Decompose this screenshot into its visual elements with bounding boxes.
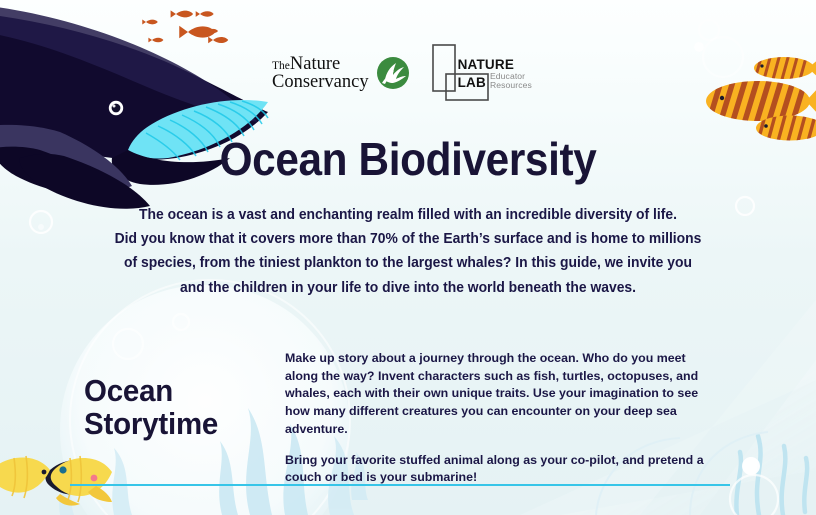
section-body-ocean-storytime: Make up story about a journey through th… [285,350,719,487]
intro-paragraph: The ocean is a vast and enchanting realm… [99,203,717,300]
logo-row: TheNature Conservancy NATURE LAB [272,44,544,102]
intro-line-4: and the children in your life to dive in… [99,276,717,300]
storytime-paragraph-1: Make up story about a journey through th… [285,350,719,439]
section-divider [70,484,730,486]
section-heading-line-2: Storytime [84,407,284,440]
page-title: Ocean Biodiversity [33,136,784,182]
poster-page: TheNature Conservancy NATURE LAB [0,0,816,515]
nature-lab-sub-resources: Resources [490,81,532,90]
nature-lab-wordmark: NATURE LAB Educator Resources [458,58,532,90]
tnc-conservancy-text: Conservancy [272,73,369,91]
nature-lab-word-lab: LAB [458,76,486,90]
intro-line-2: Did you know that it covers more than 70… [99,227,717,251]
striped-fish-top [754,54,816,83]
the-nature-conservancy-logo: TheNature Conservancy [272,55,410,91]
section-heading-line-1: Ocean [84,374,284,407]
yellow-butterflyfish-front [46,456,113,506]
nature-lab-logo: NATURE LAB Educator Resources [432,44,524,102]
orange-fish-school [142,10,228,43]
intro-line-3: of species, from the tiniest plankton to… [99,251,717,275]
yellow-butterflyfish-back [0,456,50,498]
section-heading-ocean-storytime: Ocean Storytime [84,374,284,441]
tnc-wordmark: TheNature Conservancy [272,55,369,91]
nature-lab-word-nature: NATURE [458,58,532,72]
oak-leaf-globe-icon [376,56,410,90]
tnc-the-text: The [272,60,290,72]
intro-line-1: The ocean is a vast and enchanting realm… [99,203,717,227]
storytime-paragraph-2: Bring your favorite stuffed animal along… [285,452,719,487]
